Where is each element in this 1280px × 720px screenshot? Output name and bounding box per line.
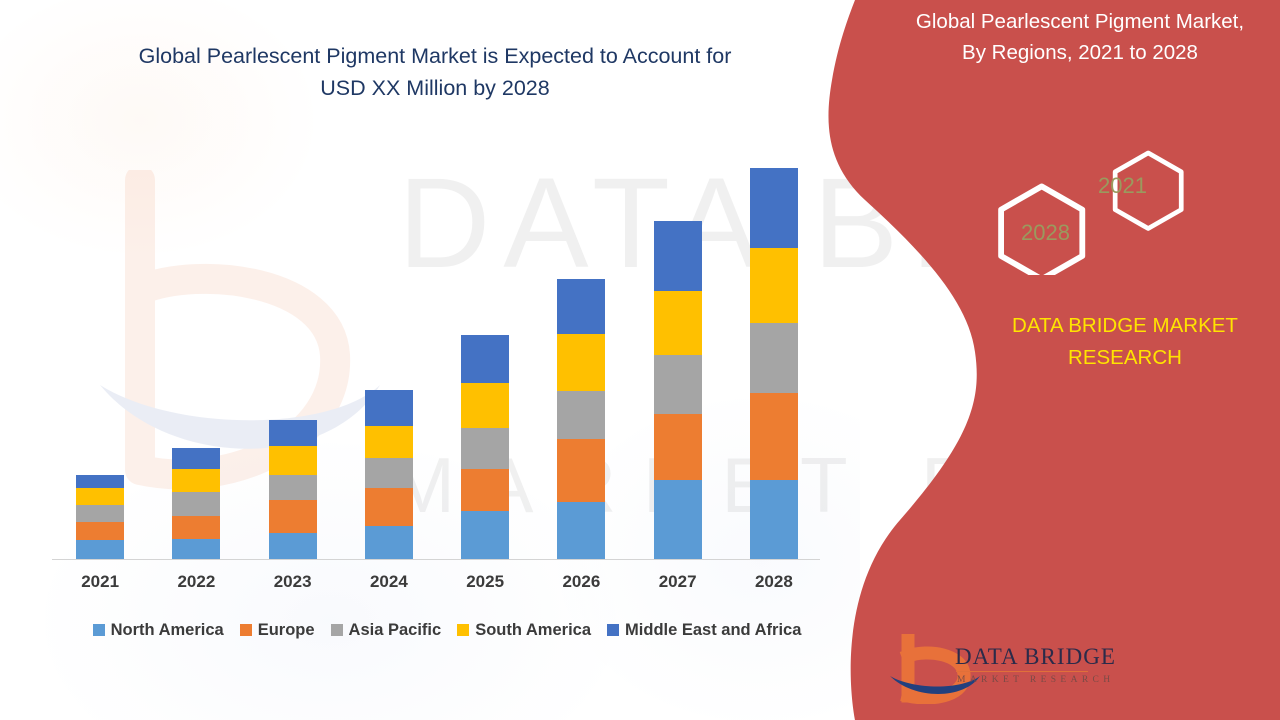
bar-segment[interactable] [654, 221, 702, 291]
legend-item[interactable]: Asia Pacific [331, 621, 442, 640]
legend-item[interactable]: North America [93, 621, 224, 640]
chart-title-line-1: Global Pearlescent Pigment Market is Exp… [60, 40, 810, 72]
x-axis-label: 2026 [533, 572, 629, 592]
bar-segment[interactable] [365, 426, 413, 459]
bar-segment[interactable] [461, 335, 509, 382]
bar-segment[interactable] [269, 475, 317, 500]
bar-segment[interactable] [76, 522, 124, 540]
bar-segment[interactable] [76, 488, 124, 506]
panel-title-line-2: By Regions, 2021 to 2028 [880, 37, 1280, 68]
bar-segment[interactable] [365, 390, 413, 426]
bar-series-container [52, 140, 822, 560]
legend-swatch-icon [607, 624, 619, 636]
bar-segment[interactable] [172, 492, 220, 516]
x-axis-label: 2023 [245, 572, 341, 592]
panel-title: Global Pearlescent Pigment Market, By Re… [880, 6, 1280, 68]
bar-segment[interactable] [654, 480, 702, 559]
x-axis-label: 2025 [437, 572, 533, 592]
x-axis-label: 2022 [148, 572, 244, 592]
infographic-canvas: DATA BRIDGE MARKET RESEARCH Global Pearl… [0, 0, 1280, 720]
hexagon-label-2028: 2028 [1021, 220, 1070, 246]
x-axis-label: 2021 [52, 572, 148, 592]
bar-segment[interactable] [172, 469, 220, 492]
chart-title-line-2: USD XX Million by 2028 [60, 72, 810, 104]
bar-segment[interactable] [172, 539, 220, 559]
brand-name-line-2: RESEARCH [975, 342, 1275, 374]
bar-segment[interactable] [76, 505, 124, 522]
brand-name-line-1: DATA BRIDGE MARKET [975, 310, 1275, 342]
legend-swatch-icon [457, 624, 469, 636]
bar-segment[interactable] [269, 533, 317, 559]
legend-swatch-icon [240, 624, 252, 636]
plot-area [52, 140, 822, 560]
bar-segment[interactable] [557, 502, 605, 559]
hexagon-pair-icon [975, 140, 1205, 275]
legend-swatch-icon [331, 624, 343, 636]
bar-segment[interactable] [557, 279, 605, 335]
legend-item[interactable]: Europe [240, 621, 315, 640]
legend-label: Asia Pacific [349, 621, 442, 640]
hexagon-label-2021: 2021 [1098, 173, 1147, 199]
logo-wordmark: DATA BRIDGE [955, 644, 1116, 670]
bar-group[interactable] [76, 475, 124, 559]
bar-segment[interactable] [654, 355, 702, 414]
bar-group[interactable] [557, 279, 605, 559]
legend-label: North America [111, 621, 224, 640]
brand-name: DATA BRIDGE MARKET RESEARCH [975, 310, 1275, 374]
logo-divider [956, 671, 1088, 672]
bar-group[interactable] [461, 335, 509, 559]
bar-segment[interactable] [557, 439, 605, 502]
bar-segment[interactable] [269, 500, 317, 533]
bar-segment[interactable] [557, 334, 605, 391]
bar-segment[interactable] [654, 291, 702, 355]
bar-segment[interactable] [76, 475, 124, 488]
bar-group[interactable] [172, 448, 220, 559]
bar-segment[interactable] [172, 448, 220, 469]
bar-segment[interactable] [654, 414, 702, 480]
chart-title: Global Pearlescent Pigment Market is Exp… [60, 40, 810, 104]
legend-item[interactable]: South America [457, 621, 591, 640]
bar-group[interactable] [654, 221, 702, 559]
bar-segment[interactable] [461, 383, 509, 428]
legend-label: South America [475, 621, 591, 640]
bar-segment[interactable] [461, 469, 509, 511]
x-axis-labels: 20212022202320242025202620272028 [52, 572, 822, 602]
x-axis-label: 2024 [341, 572, 437, 592]
bar-group[interactable] [269, 420, 317, 559]
bar-segment[interactable] [461, 511, 509, 559]
hexagon-group [975, 140, 1205, 275]
logo-tagline: MARKET RESEARCH [957, 675, 1114, 685]
legend-swatch-icon [93, 624, 105, 636]
x-axis-label: 2027 [630, 572, 726, 592]
bar-segment[interactable] [76, 540, 124, 559]
bar-segment[interactable] [269, 420, 317, 445]
bar-segment[interactable] [365, 458, 413, 487]
bar-segment[interactable] [461, 428, 509, 469]
legend-label: Europe [258, 621, 315, 640]
x-axis-line [52, 559, 820, 560]
bar-group[interactable] [365, 390, 413, 559]
bar-segment[interactable] [365, 488, 413, 527]
chart-legend: North AmericaEuropeAsia PacificSouth Ame… [52, 616, 842, 644]
panel-title-line-1: Global Pearlescent Pigment Market, [880, 6, 1280, 37]
bar-segment[interactable] [557, 391, 605, 439]
bar-segment[interactable] [365, 526, 413, 559]
bar-segment[interactable] [269, 446, 317, 475]
bar-segment[interactable] [172, 516, 220, 539]
